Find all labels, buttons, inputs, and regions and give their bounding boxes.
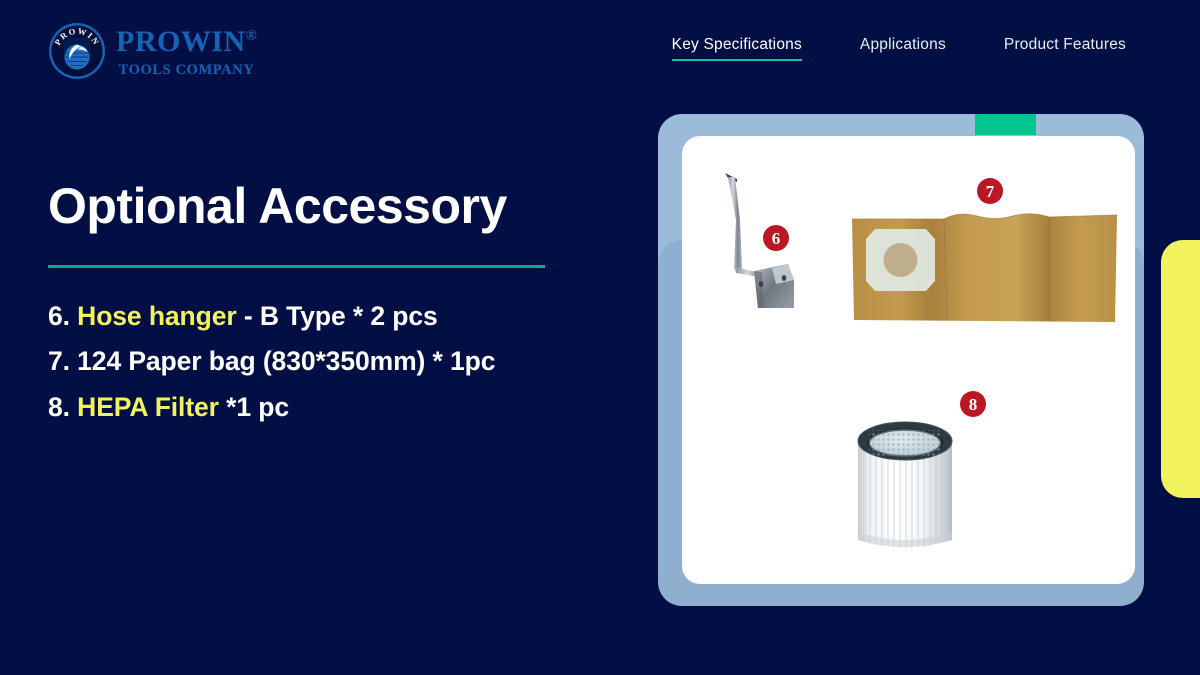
item-number: 7. bbox=[48, 346, 70, 376]
list-item: 6. Hose hanger - B Type * 2 pcs bbox=[48, 294, 648, 340]
list-item: 8. HEPA Filter *1 pc bbox=[48, 385, 648, 431]
brand-logo[interactable]: PROWIN PROWIN® TOOLS COMPANY bbox=[48, 22, 257, 80]
item-highlight: HEPA Filter bbox=[77, 392, 219, 422]
title-divider bbox=[48, 265, 545, 268]
product-photo-card bbox=[682, 136, 1135, 584]
item-text: 124 Paper bag (830*350mm) * 1pc bbox=[70, 346, 495, 376]
prowin-globe-logo-icon: PROWIN bbox=[48, 22, 106, 80]
content-column: Optional Accessory 6. Hose hanger - B Ty… bbox=[48, 180, 648, 430]
product-badge-7: 7 bbox=[977, 178, 1003, 204]
accessory-list: 6. Hose hanger - B Type * 2 pcs 7. 124 P… bbox=[48, 294, 648, 431]
header-bar: PROWIN PROWIN® TOOLS COMPANY Key Specifi… bbox=[0, 0, 1200, 100]
nav-item-key-specifications[interactable]: Key Specifications bbox=[672, 36, 802, 61]
item-highlight: Hose hanger bbox=[77, 301, 236, 331]
main-nav: Key Specifications Applications Product … bbox=[672, 36, 1126, 61]
brand-subtitle: TOOLS COMPANY bbox=[119, 63, 255, 78]
brand-text: PROWIN® TOOLS COMPANY bbox=[116, 25, 257, 78]
item-number: 6. bbox=[48, 301, 70, 331]
item-number: 8. bbox=[48, 392, 70, 422]
nav-item-applications[interactable]: Applications bbox=[860, 36, 946, 59]
accent-bar-yellow bbox=[1161, 240, 1200, 498]
product-badge-8: 8 bbox=[960, 391, 986, 417]
item-text: - B Type * 2 pcs bbox=[237, 301, 438, 331]
nav-item-product-features[interactable]: Product Features bbox=[1004, 36, 1126, 59]
slide-root: PROWIN PROWIN® TOOLS COMPANY Key Specifi… bbox=[0, 0, 1200, 675]
product-badge-6: 6 bbox=[763, 225, 789, 251]
page-title: Optional Accessory bbox=[48, 180, 648, 233]
paper-bag-photo bbox=[849, 207, 1121, 324]
list-item: 7. 124 Paper bag (830*350mm) * 1pc bbox=[48, 339, 648, 385]
hepa-filter-photo bbox=[841, 412, 969, 572]
brand-name: PROWIN® bbox=[116, 27, 257, 57]
accent-bar-green bbox=[975, 114, 1036, 135]
item-text: *1 pc bbox=[219, 392, 289, 422]
registered-mark-icon: ® bbox=[246, 28, 257, 44]
